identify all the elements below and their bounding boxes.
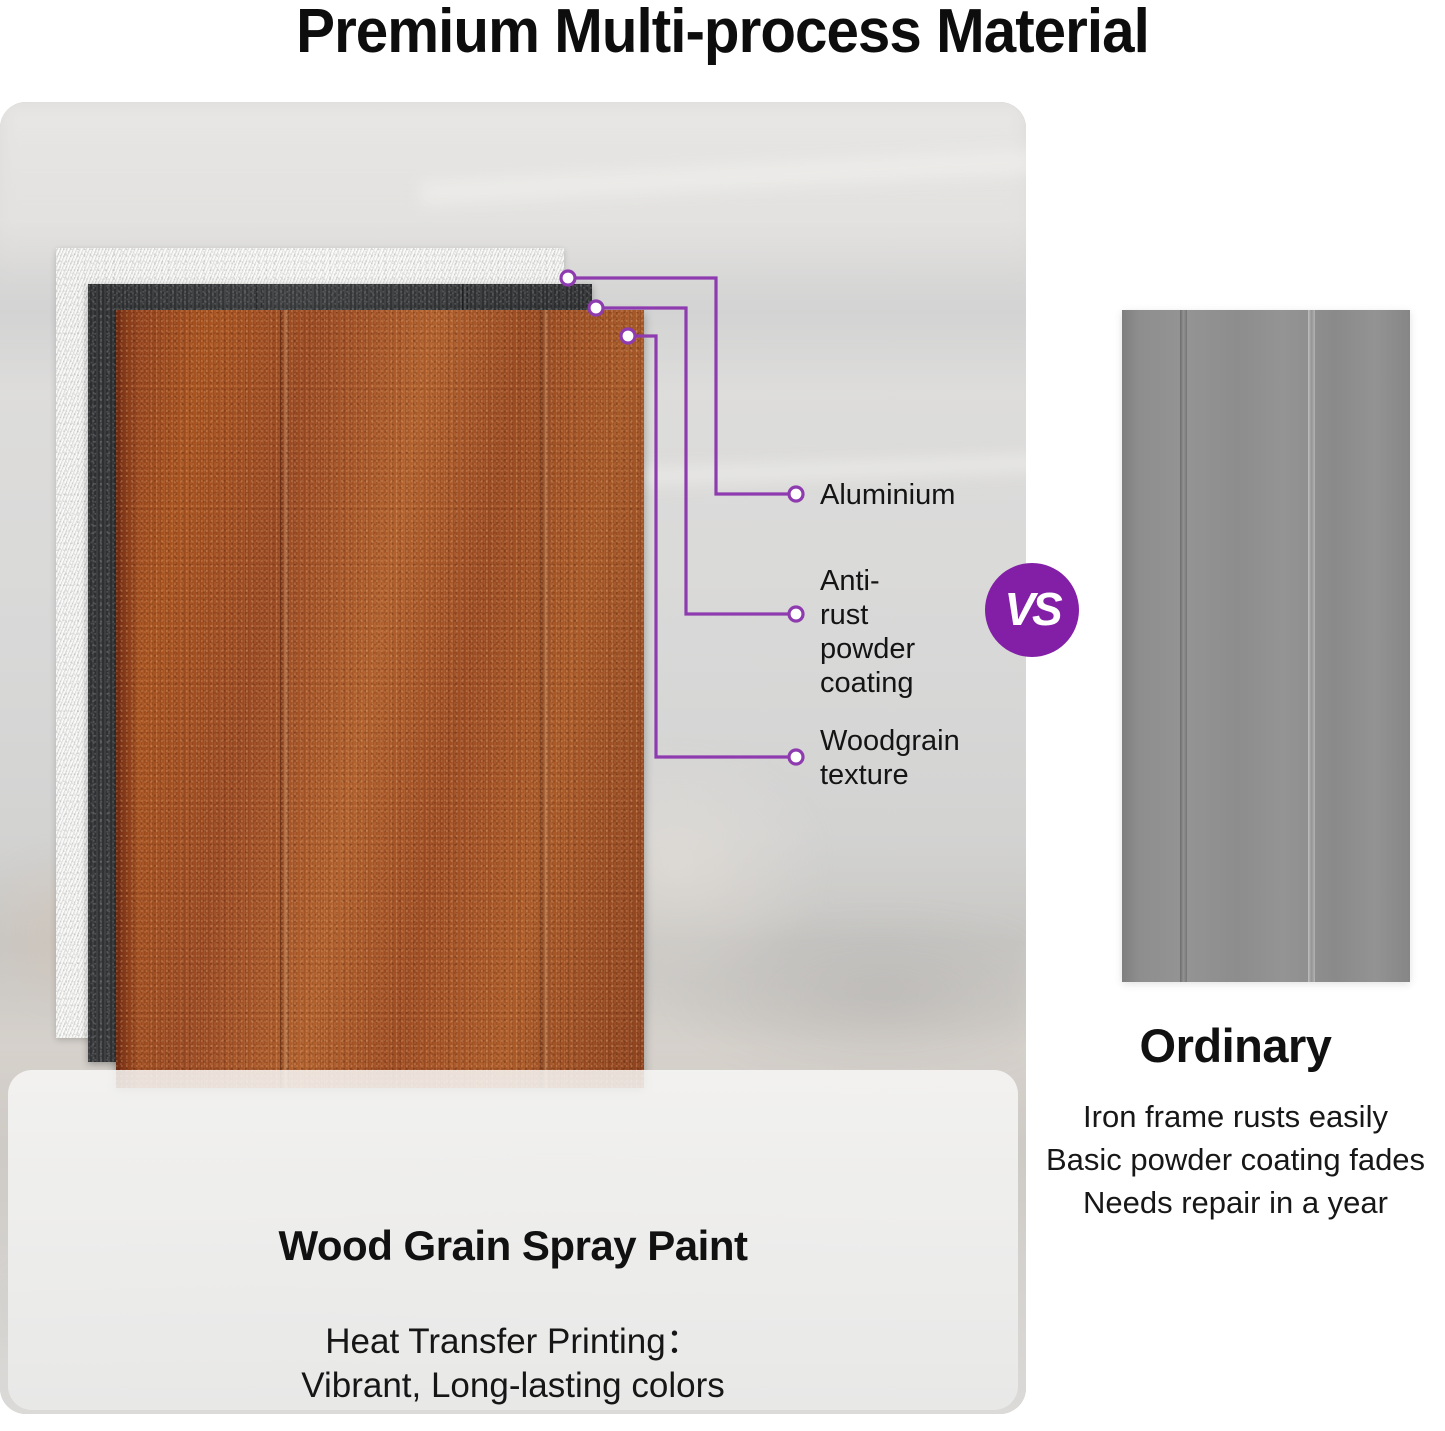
wood-panel-groove bbox=[280, 310, 289, 1088]
wood-panel-left-edge bbox=[116, 310, 138, 1088]
left-feature-line: Fade-resistant bbox=[0, 1408, 1026, 1414]
ordinary-drawback-line: Iron frame rusts easily bbox=[1026, 1095, 1445, 1138]
callout-label-aluminium: Aluminium bbox=[820, 478, 955, 512]
ordinary-metal-panel bbox=[1122, 310, 1410, 982]
ordinary-drawback-list: Iron frame rusts easily Basic powder coa… bbox=[1026, 1095, 1445, 1224]
ordinary-heading: Ordinary bbox=[1026, 1018, 1445, 1073]
page-title: Premium Multi-process Material bbox=[43, 0, 1401, 68]
left-feature-line: Vibrant, Long-lasting colors bbox=[0, 1364, 1026, 1408]
callout-label-woodgrain-texture: Woodgrain texture bbox=[820, 724, 960, 792]
ordinary-drawback-line: Needs repair in a year bbox=[1026, 1181, 1445, 1224]
left-card-heading: Wood Grain Spray Paint bbox=[0, 1222, 1026, 1270]
layer-woodgrain-texture bbox=[116, 310, 644, 1088]
left-feature-line: Heat Transfer Printing： bbox=[0, 1320, 1026, 1364]
ordinary-drawback-line: Basic powder coating fades bbox=[1026, 1138, 1445, 1181]
vs-badge-label: VS bbox=[1004, 582, 1059, 636]
premium-material-card: Aluminium Anti-rust powder coating Woodg… bbox=[0, 102, 1026, 1414]
ordinary-panel-groove bbox=[1308, 310, 1315, 982]
ordinary-panel-groove bbox=[1180, 310, 1187, 982]
left-card-feature-list: Heat Transfer Printing： Vibrant, Long-la… bbox=[0, 1320, 1026, 1414]
infographic-page: Premium Multi-process Material bbox=[0, 0, 1445, 1431]
wood-panel-groove bbox=[540, 310, 549, 1088]
vs-badge: VS bbox=[985, 563, 1079, 657]
callout-label-anti-rust-powder-coating: Anti-rust powder coating bbox=[820, 564, 915, 700]
